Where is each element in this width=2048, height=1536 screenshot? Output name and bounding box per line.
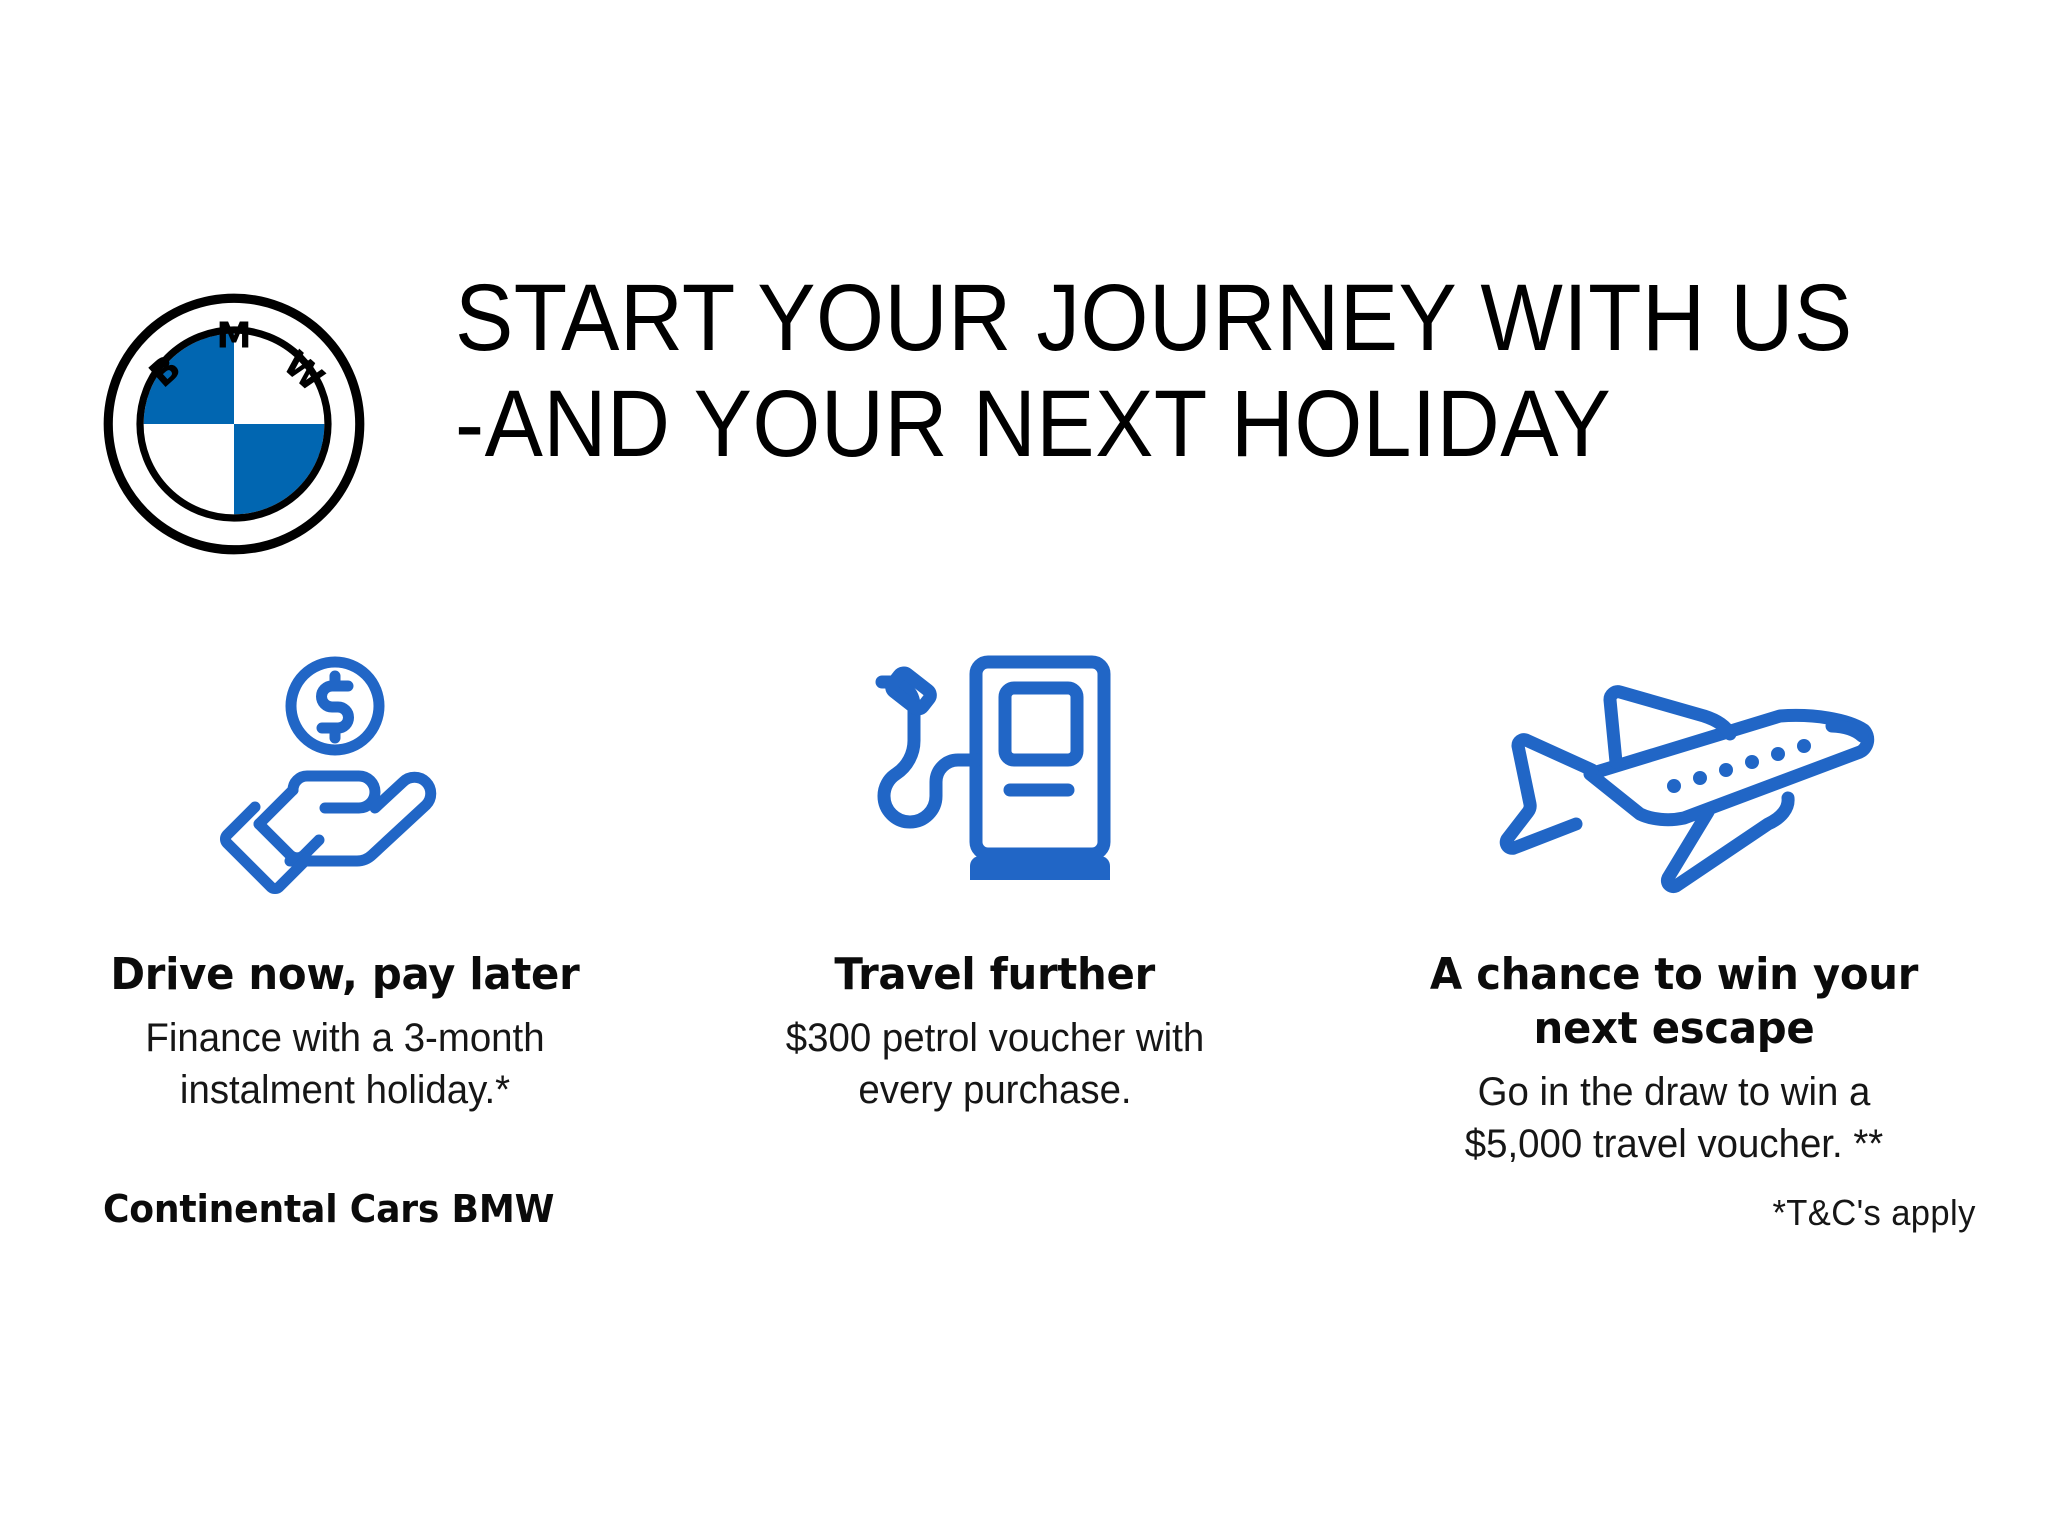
headline-line-1: START YOUR JOURNEY WITH US xyxy=(455,265,1853,371)
hand-holding-dollar-icon xyxy=(200,600,470,900)
svg-text:M: M xyxy=(216,315,251,356)
banner-header: B M W START YOUR JOURNEY WITH US -AND YO… xyxy=(0,265,2048,565)
feature-body: Go in the draw to win a $5,000 travel vo… xyxy=(1415,1066,1933,1170)
bmw-logo: B M W xyxy=(103,293,365,555)
feature-body: Finance with a 3-month instalment holida… xyxy=(95,1012,594,1116)
feature-column-finance: Drive now, pay later Finance with a 3-mo… xyxy=(0,600,690,1116)
feature-heading: Drive now, pay later xyxy=(110,948,579,1002)
dealer-name: Continental Cars BMW xyxy=(103,1185,554,1233)
feature-column-travel: A chance to win your next escape Go in t… xyxy=(1300,600,2048,1170)
headline-line-2: -AND YOUR NEXT HOLIDAY xyxy=(455,371,1853,477)
feature-heading: A chance to win your next escape xyxy=(1418,948,1931,1056)
feature-body: $300 petrol voucher with every purchase. xyxy=(736,1012,1254,1116)
feature-columns: Drive now, pay later Finance with a 3-mo… xyxy=(0,600,2048,1180)
terms-note: *T&C's apply xyxy=(1773,1191,1976,1235)
promotional-banner: B M W START YOUR JOURNEY WITH US -AND YO… xyxy=(0,0,2048,1536)
banner-footer: Continental Cars BMW *T&C's apply xyxy=(0,1185,2048,1255)
fuel-pump-icon xyxy=(850,600,1150,900)
airplane-icon xyxy=(1494,600,1894,900)
headline: START YOUR JOURNEY WITH US -AND YOUR NEX… xyxy=(455,265,1975,477)
feature-heading: Travel further xyxy=(835,948,1155,1002)
feature-column-petrol: Travel further $300 petrol voucher with … xyxy=(690,600,1300,1116)
